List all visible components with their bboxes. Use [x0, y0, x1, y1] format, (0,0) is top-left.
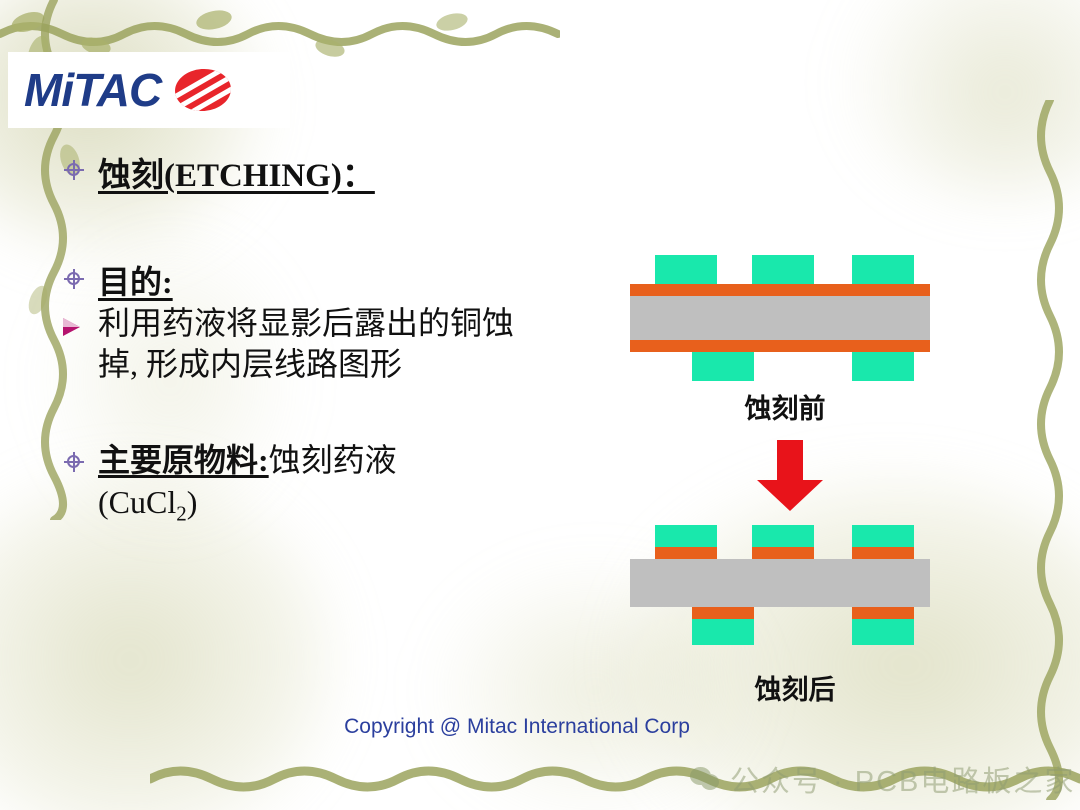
presentation-slide: MiTAC 蚀刻(ETCHING)： 目的: 利用药液将显	[0, 0, 1080, 810]
resist-pad-top-3	[852, 525, 914, 547]
process-direction-arrow-icon	[755, 440, 825, 512]
formula-suffix: )	[187, 484, 198, 520]
formula-prefix: (CuCl	[98, 484, 176, 520]
copper-trace-top-1	[655, 547, 717, 559]
resist-pad-top-2	[752, 255, 814, 284]
wechat-watermark: 公众号 · PCB电路板之家	[690, 758, 1075, 800]
formula-subscript: 2	[176, 501, 187, 525]
material-value: 蚀刻药液	[269, 442, 397, 478]
pcb-cross-section-after	[630, 525, 940, 630]
crosshair-bullet-icon	[64, 269, 84, 289]
copper-trace-top-2	[752, 547, 814, 559]
arrow-bullet-icon	[62, 317, 84, 337]
before-diagram-caption: 蚀刻前	[680, 387, 890, 426]
copper-trace-bottom-1	[692, 607, 754, 619]
slide-body: 蚀刻(ETCHING)： 目的: 利用药液将显影后露出的铜蚀掉, 形成内层线路图…	[0, 0, 1080, 810]
material-row: 主要原物料:蚀刻药液 (CuCl2)	[64, 440, 528, 527]
crosshair-bullet-icon	[64, 160, 84, 180]
substrate-core	[630, 296, 930, 340]
purpose-heading: 目的:	[98, 257, 173, 303]
resist-pad-bottom-1	[692, 352, 754, 381]
resist-pad-bottom-2	[852, 619, 914, 645]
material-formula: (CuCl2)	[98, 484, 197, 520]
substrate-core	[630, 559, 930, 607]
purpose-body-row: 利用药液将显影后露出的铜蚀掉, 形成内层线路图形	[62, 303, 518, 385]
watermark-label: 公众号 · PCB电路板之家	[730, 758, 1075, 800]
copper-foil-top	[630, 284, 930, 296]
material-text: 主要原物料:蚀刻药液 (CuCl2)	[98, 440, 528, 527]
resist-pad-top-3	[852, 255, 914, 284]
purpose-heading-row: 目的:	[64, 257, 173, 303]
wechat-icon	[690, 766, 720, 792]
resist-pad-top-2	[752, 525, 814, 547]
pcb-cross-section-before	[630, 255, 940, 360]
resist-pad-top-1	[655, 525, 717, 547]
material-label: 主要原物料:	[98, 442, 269, 478]
page-title: 蚀刻(ETCHING)：	[98, 148, 375, 196]
resist-pad-bottom-1	[692, 619, 754, 645]
crosshair-bullet-icon	[64, 452, 84, 472]
after-diagram-caption: 蚀刻后	[690, 668, 900, 707]
copper-trace-bottom-2	[852, 607, 914, 619]
purpose-body-text: 利用药液将显影后露出的铜蚀掉, 形成内层线路图形	[98, 303, 518, 385]
resist-pad-top-1	[655, 255, 717, 284]
copyright-text: Copyright @ Mitac International Corp	[0, 715, 1034, 739]
copper-foil-bottom	[630, 340, 930, 352]
resist-pad-bottom-2	[852, 352, 914, 381]
copper-trace-top-3	[852, 547, 914, 559]
slide-title-row: 蚀刻(ETCHING)：	[64, 148, 375, 196]
